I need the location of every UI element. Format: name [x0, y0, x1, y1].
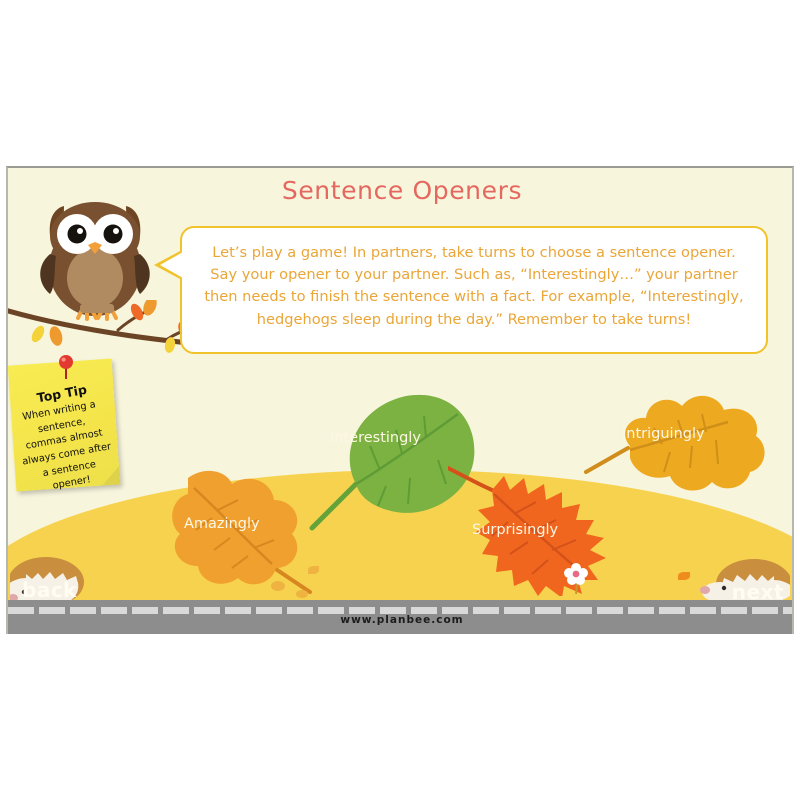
- leaf-surprisingly[interactable]: Surprisingly: [448, 456, 648, 596]
- next-button-label: next: [732, 580, 784, 604]
- push-pin-icon: [58, 354, 74, 380]
- back-button-label: back: [22, 578, 77, 602]
- fence-rail: [8, 607, 794, 614]
- presentation-slide: Sentence Openers: [6, 166, 794, 634]
- ground-leaf-bit: [678, 572, 690, 580]
- top-tip-sticky-note: Top Tip When writing a sentence, commas …: [12, 354, 122, 490]
- speech-bubble-tail-inner: [160, 252, 183, 278]
- footer-bar: www.planbee.com: [8, 600, 794, 634]
- flower-illustration: [563, 561, 589, 595]
- speech-bubble-text: Let’s play a game! In partners, take tur…: [202, 242, 746, 331]
- speech-bubble: Let’s play a game! In partners, take tur…: [180, 226, 768, 354]
- ground-base: [8, 572, 794, 600]
- ground-leaf-bit: [308, 566, 319, 574]
- footer-url: www.planbee.com: [8, 614, 794, 626]
- sticky-note-fold: [101, 466, 120, 485]
- leaf-amazingly[interactable]: Amazingly: [158, 458, 348, 598]
